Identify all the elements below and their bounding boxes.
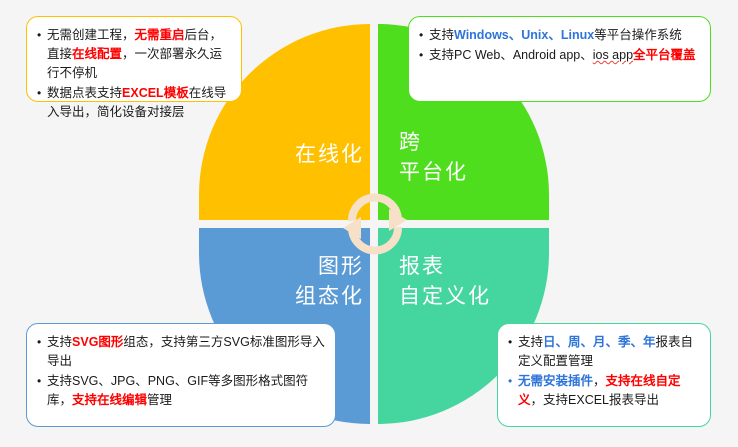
callout-report-customization: 支持日、周、月、季、年报表自定义配置管理无需安装插件，支持在线自定义，支持EXC… bbox=[497, 323, 711, 427]
callout-graphics-configuration: 支持SVG图形组态，支持第三方SVG标准图形导入导出支持SVG、JPG、PNG、… bbox=[26, 323, 336, 427]
list-item: 数据点表支持EXCEL模板在线导入导出，简化设备对接层 bbox=[47, 84, 231, 122]
list-item: 无需安装插件，支持在线自定义，支持EXCEL报表导出 bbox=[518, 372, 700, 410]
list-item: 支持SVG图形组态，支持第三方SVG标准图形导入导出 bbox=[47, 333, 325, 371]
quadrant-label-graphics-configuration: 图形 组态化 bbox=[229, 252, 364, 313]
callout-online-list: 无需创建工程，无需重启后台，直接在线配置，一次部署永久运行不停机数据点表支持EX… bbox=[33, 26, 231, 122]
callout-online: 无需创建工程，无需重启后台，直接在线配置，一次部署永久运行不停机数据点表支持EX… bbox=[26, 16, 242, 102]
callout-cross-platform: 支持Windows、Unix、Linux等平台操作系统支持PC Web、Andr… bbox=[408, 16, 711, 102]
callout-report-customization-list: 支持日、周、月、季、年报表自定义配置管理无需安装插件，支持在线自定义，支持EXC… bbox=[504, 333, 700, 410]
list-item: 无需创建工程，无需重启后台，直接在线配置，一次部署永久运行不停机 bbox=[47, 26, 231, 83]
callout-graphics-configuration-list: 支持SVG图形组态，支持第三方SVG标准图形导入导出支持SVG、JPG、PNG、… bbox=[33, 333, 325, 410]
list-item: 支持PC Web、Android app、ios app全平台覆盖 bbox=[429, 46, 700, 65]
diagram-canvas: 在线化 跨 平台化 图形 组态化 报表 自定义化 无需创建工程，无需重启后台，直… bbox=[0, 0, 738, 447]
quadrant-label-online: 在线化 bbox=[229, 140, 364, 170]
quadrant-label-cross-platform: 跨 平台化 bbox=[385, 128, 535, 189]
list-item: 支持SVG、JPG、PNG、GIF等多图形格式图符库，支持在线编辑管理 bbox=[47, 372, 325, 410]
list-item: 支持日、周、月、季、年报表自定义配置管理 bbox=[518, 333, 700, 371]
quadrant-label-report-customization: 报表 自定义化 bbox=[385, 252, 535, 313]
callout-cross-platform-list: 支持Windows、Unix、Linux等平台操作系统支持PC Web、Andr… bbox=[415, 26, 700, 65]
list-item: 支持Windows、Unix、Linux等平台操作系统 bbox=[429, 26, 700, 45]
